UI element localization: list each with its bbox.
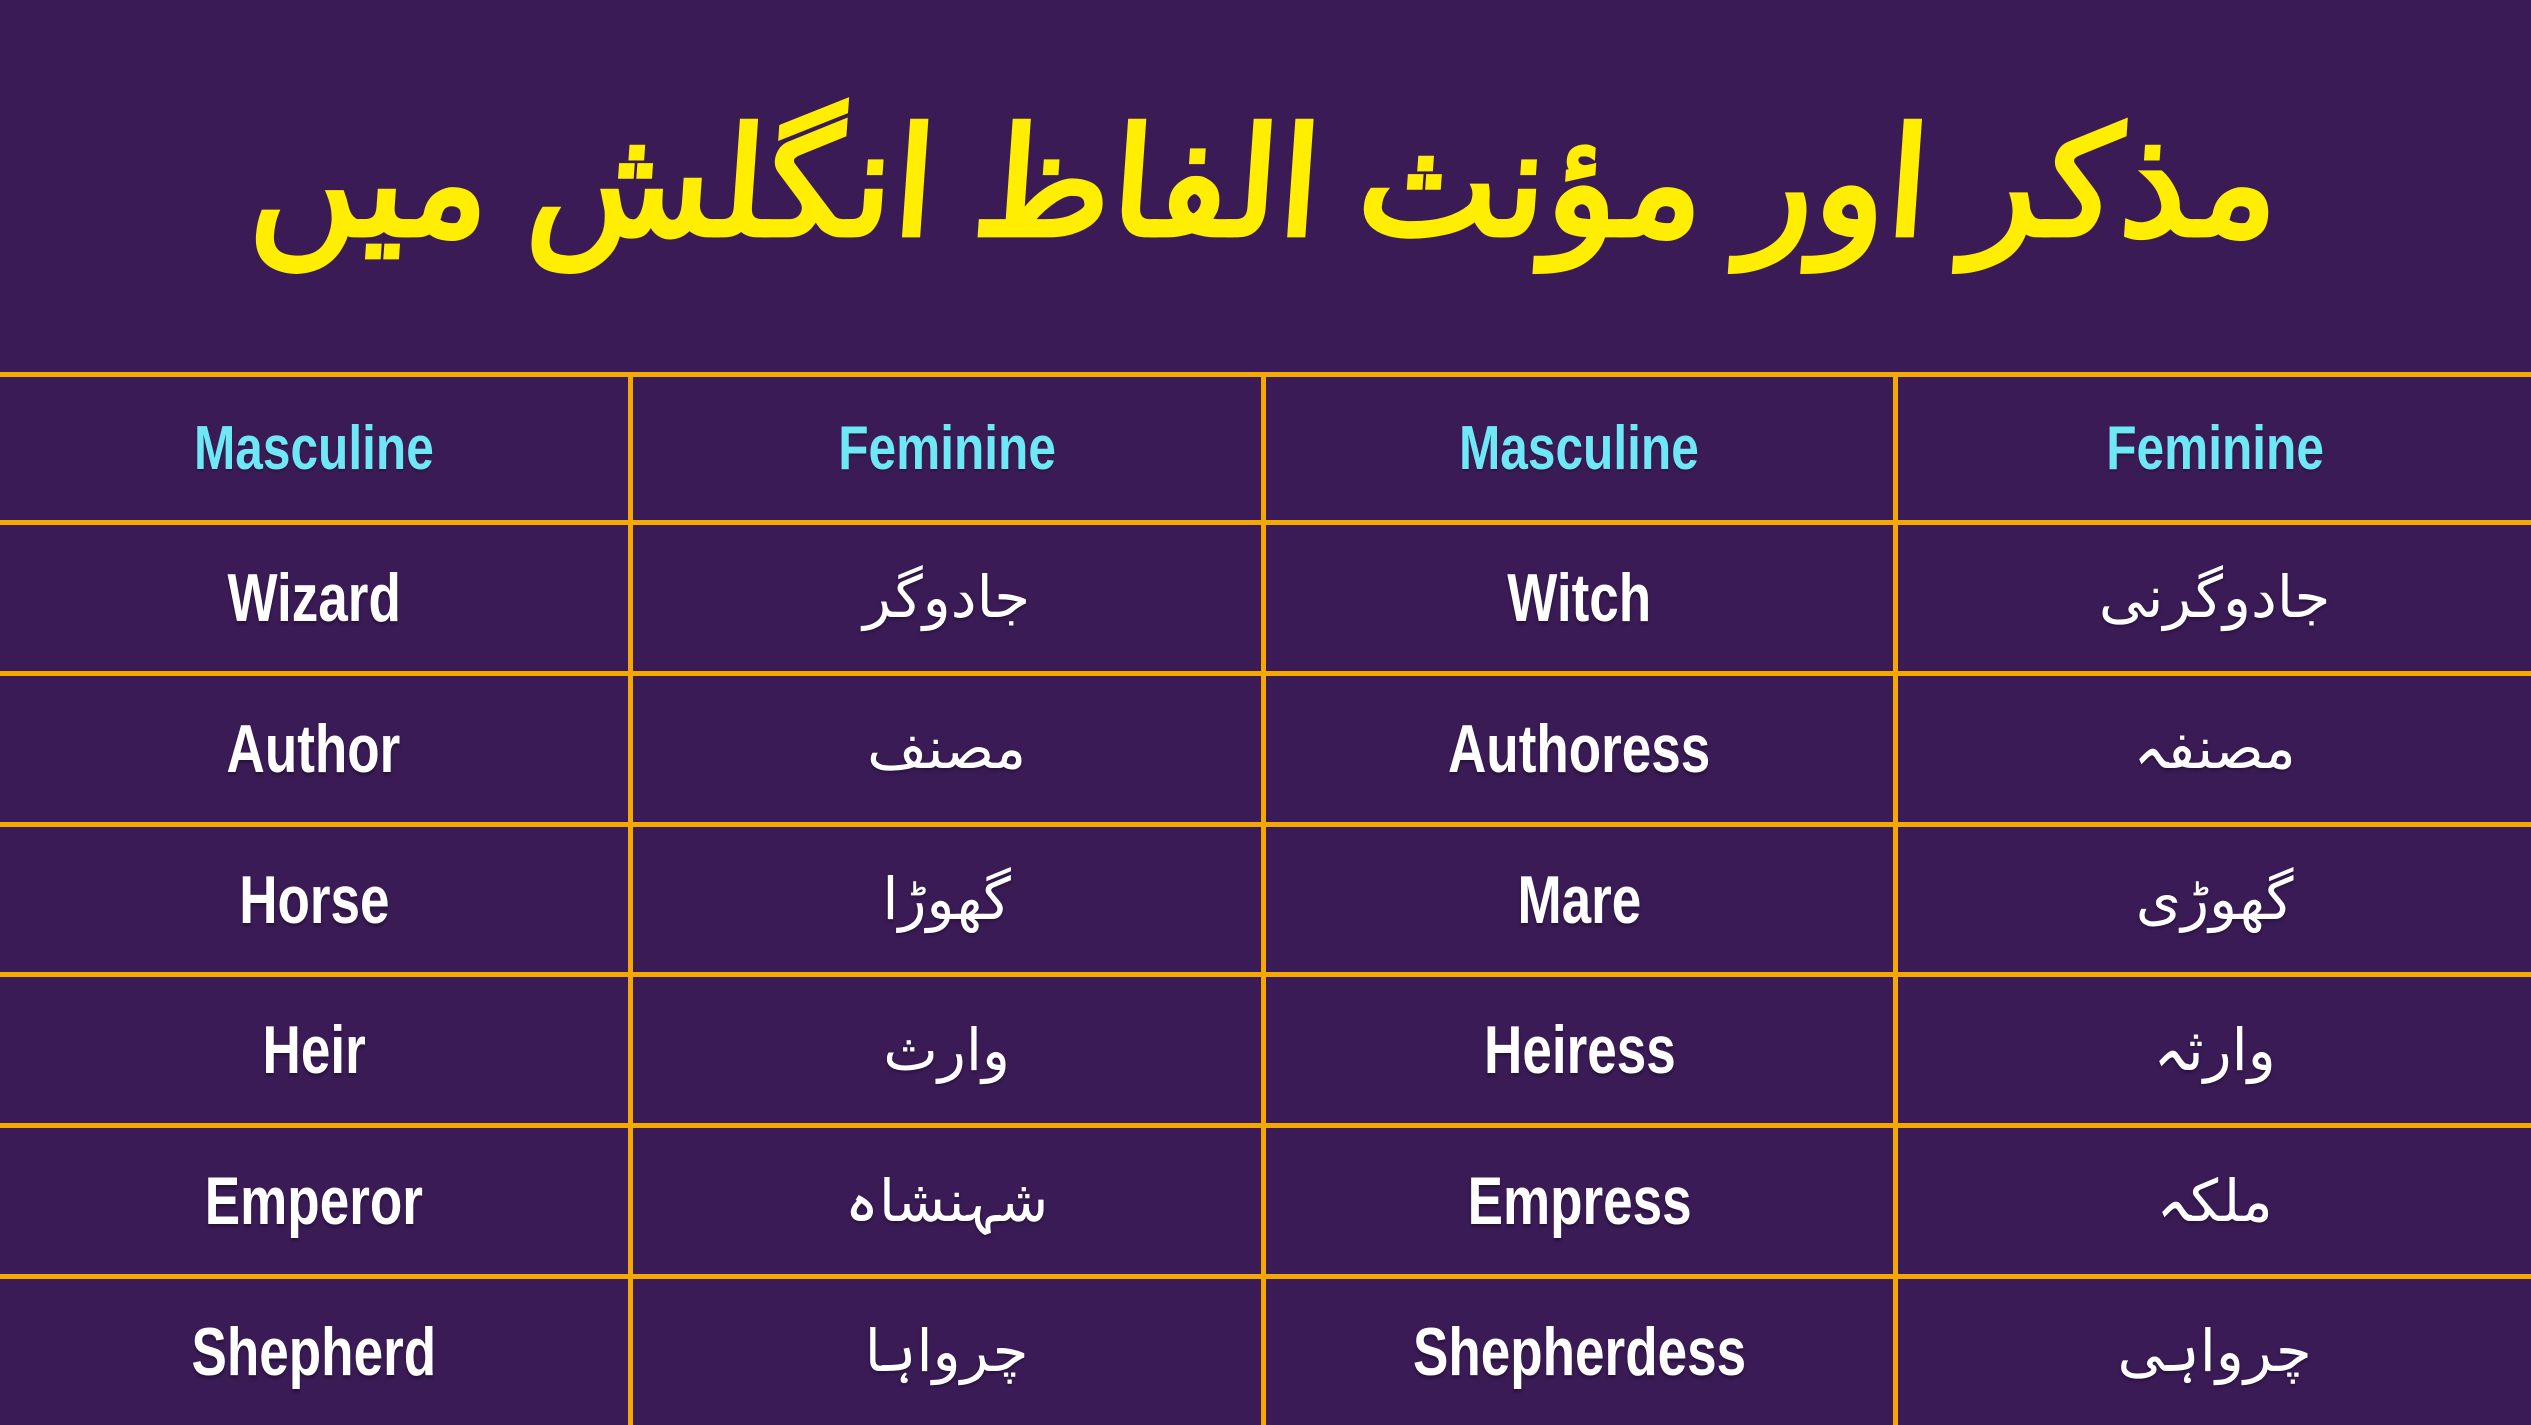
column-header-label: Feminine <box>2106 418 2324 480</box>
cell-feminine-english: Authoress <box>1266 676 1899 822</box>
word-urdu: جادوگر <box>863 560 1030 635</box>
vocabulary-table: Masculine Feminine Masculine Feminine Wi… <box>0 372 2531 1425</box>
cell-masculine-urdu: مصنف <box>633 676 1266 822</box>
word-urdu: وارثہ <box>2153 1013 2275 1088</box>
word-urdu: ملکہ <box>2156 1164 2272 1239</box>
word-urdu: چرواہی <box>2117 1314 2311 1389</box>
cell-feminine-english: Witch <box>1266 525 1899 671</box>
word-english: Shepherd <box>192 1318 437 1386</box>
word-english: Emperor <box>205 1167 423 1235</box>
word-urdu: جادوگرنی <box>2099 560 2330 635</box>
word-urdu: مصنفہ <box>2134 711 2296 786</box>
column-header-label: Feminine <box>838 418 1056 480</box>
cell-masculine-urdu: چرواہا <box>633 1279 1266 1425</box>
poster-root: مذکر اور مؤنث الفاظ انگلش میں Masculine … <box>0 0 2531 1425</box>
cell-masculine-english: Shepherd <box>0 1279 633 1425</box>
word-english: Wizard <box>227 564 400 632</box>
word-urdu: گھوڑی <box>2136 862 2294 937</box>
table-header-cell-feminine-2: Feminine <box>1898 377 2531 520</box>
word-english: Heiress <box>1484 1016 1676 1084</box>
cell-masculine-english: Emperor <box>0 1128 633 1274</box>
word-english: Mare <box>1517 866 1641 934</box>
table-row: Horse گھوڑا Mare گھوڑی <box>0 827 2531 978</box>
table-row: Emperor شہنشاہ Empress ملکہ <box>0 1128 2531 1279</box>
column-header-label: Masculine <box>1459 418 1699 480</box>
word-english: Heir <box>262 1016 365 1084</box>
cell-feminine-english: Heiress <box>1266 977 1899 1123</box>
cell-feminine-urdu: مصنفہ <box>1898 676 2531 822</box>
word-english: Horse <box>239 866 389 934</box>
table-header-cell-feminine-1: Feminine <box>633 377 1266 520</box>
table-row: Heir وارث Heiress وارثہ <box>0 977 2531 1128</box>
word-english: Witch <box>1507 564 1651 632</box>
cell-feminine-urdu: وارثہ <box>1898 977 2531 1123</box>
cell-masculine-urdu: وارث <box>633 977 1266 1123</box>
cell-masculine-english: Heir <box>0 977 633 1123</box>
table-row: Author مصنف Authoress مصنفہ <box>0 676 2531 827</box>
table-header-row: Masculine Feminine Masculine Feminine <box>0 377 2531 525</box>
table-header-cell-masculine-2: Masculine <box>1266 377 1899 520</box>
word-english: Authoress <box>1448 715 1710 783</box>
cell-masculine-urdu: شہنشاہ <box>633 1128 1266 1274</box>
cell-feminine-english: Empress <box>1266 1128 1899 1274</box>
word-english: Shepherdess <box>1413 1318 1746 1386</box>
word-urdu: گھوڑا <box>882 862 1010 937</box>
word-urdu: مصنف <box>867 711 1026 786</box>
cell-feminine-urdu: چرواہی <box>1898 1279 2531 1425</box>
cell-masculine-english: Author <box>0 676 633 822</box>
page-title: مذکر اور مؤنث الفاظ انگلش میں <box>205 92 2327 280</box>
column-header-label: Masculine <box>194 418 434 480</box>
word-urdu: شہنشاہ <box>845 1164 1048 1239</box>
title-banner: مذکر اور مؤنث الفاظ انگلش میں <box>0 0 2531 372</box>
word-english: Empress <box>1467 1167 1691 1235</box>
table-row: Shepherd چرواہا Shepherdess چرواہی <box>0 1279 2531 1425</box>
word-urdu: وارث <box>883 1013 1010 1088</box>
word-english: Author <box>227 715 401 783</box>
cell-feminine-urdu: گھوڑی <box>1898 827 2531 973</box>
cell-feminine-urdu: ملکہ <box>1898 1128 2531 1274</box>
cell-feminine-english: Shepherdess <box>1266 1279 1899 1425</box>
cell-feminine-urdu: جادوگرنی <box>1898 525 2531 671</box>
word-urdu: چرواہا <box>865 1314 1029 1389</box>
table-row: Wizard جادوگر Witch جادوگرنی <box>0 525 2531 676</box>
cell-masculine-english: Wizard <box>0 525 633 671</box>
cell-masculine-english: Horse <box>0 827 633 973</box>
cell-masculine-urdu: جادوگر <box>633 525 1266 671</box>
cell-masculine-urdu: گھوڑا <box>633 827 1266 973</box>
cell-feminine-english: Mare <box>1266 827 1899 973</box>
table-header-cell-masculine-1: Masculine <box>0 377 633 520</box>
